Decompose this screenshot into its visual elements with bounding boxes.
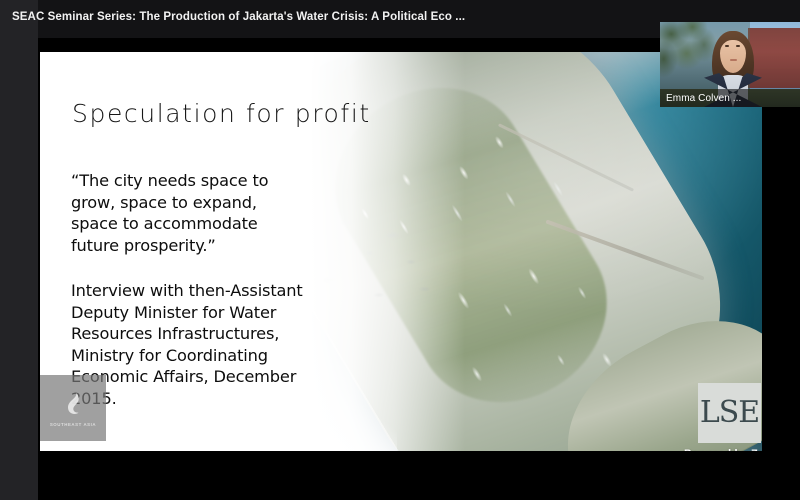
presentation-slide: Speculation for profit “The city needs s… [40, 52, 762, 451]
lse-logo: LSE [698, 383, 761, 443]
participant-mouth [730, 59, 737, 61]
powered-by-zoom-label: Powered by Zoom [684, 448, 762, 451]
slide-title: Speculation for profit [72, 99, 371, 128]
window-title: SEAC Seminar Series: The Production of J… [12, 11, 465, 23]
seac-logo-caption: SOUTHEAST ASIA [40, 422, 106, 427]
participant-eye-left [725, 45, 729, 47]
participant-eye-right [736, 45, 740, 47]
zoom-meeting-window: SEAC Seminar Series: The Production of J… [0, 0, 800, 500]
lse-logo-text: LSE [700, 398, 759, 428]
webcam-participant-name: Emma Colven ... [666, 93, 741, 104]
slide-quote: “The city needs space to grow, space to … [71, 170, 303, 256]
slide-attribution: Interview with then-Assistant Deputy Min… [71, 280, 307, 410]
window-left-rail [0, 38, 38, 500]
seac-logo: SOUTHEAST ASIA [40, 375, 106, 441]
shared-screen-stage[interactable]: Speculation for profit “The city needs s… [38, 38, 800, 500]
flame-icon [63, 392, 83, 420]
webcam-thumbnail[interactable]: Emma Colven ... [660, 22, 800, 107]
